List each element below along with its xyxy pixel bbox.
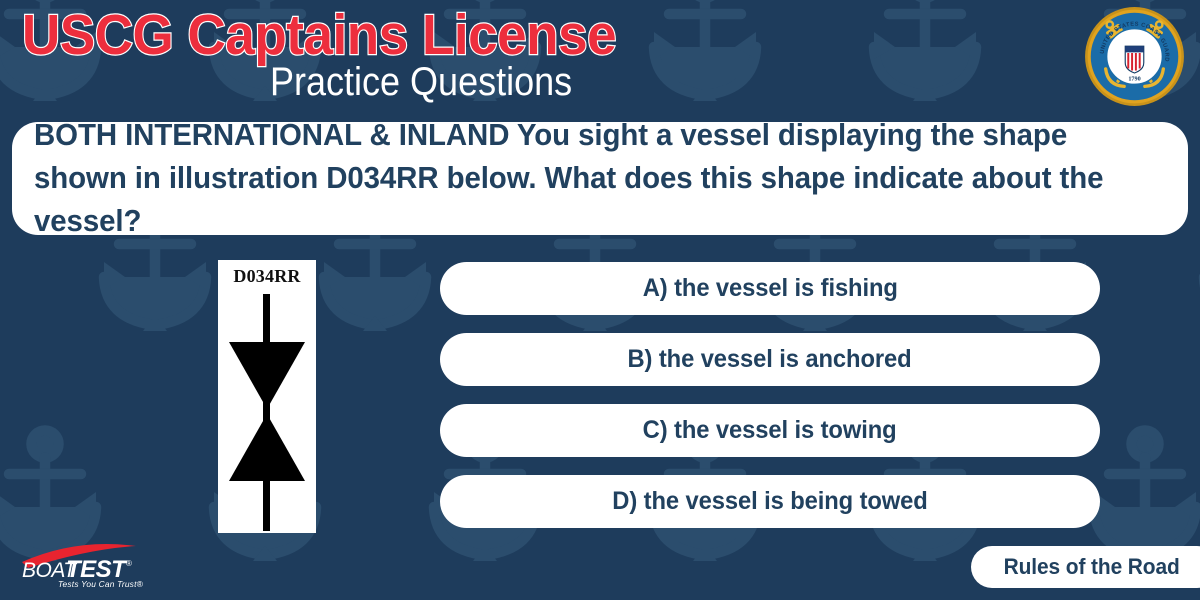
svg-text:1790: 1790 [1128,76,1140,83]
question-card: BOTH INTERNATIONAL & INLAND You sight a … [12,122,1188,235]
slide-canvas: USCG Captains License Practice Questions [0,0,1200,600]
answer-option-b[interactable]: B) the vessel is anchored [440,333,1100,386]
answer-option-d-label: D) the vessel is being towed [612,487,927,516]
illustration-label: D034RR [218,266,316,287]
boattest-logo[interactable]: BOAT TEST ® Tests You Can Trust® [18,532,178,592]
answer-options-list: A) the vessel is fishing B) the vessel i… [440,262,1100,546]
illustration-panel: D034RR [218,260,316,533]
uscg-seal-icon: UNITED STATES COAST GUARD 1790 [1083,5,1186,108]
question-text: BOTH INTERNATIONAL & INLAND You sight a … [34,114,1128,244]
page-subtitle: Practice Questions [270,62,572,102]
category-badge[interactable]: Rules of the Road [971,546,1200,588]
answer-option-d[interactable]: D) the vessel is being towed [440,475,1100,528]
svg-text:®: ® [126,559,132,568]
anchor-icon [0,190,10,340]
svg-text:Tests You Can Trust®: Tests You Can Trust® [58,579,144,589]
category-badge-label: Rules of the Road [1003,554,1179,580]
header: USCG Captains License Practice Questions [0,0,1200,118]
answer-option-c[interactable]: C) the vessel is towing [440,404,1100,457]
double-cone-dayshape-icon [218,292,316,533]
answer-option-a[interactable]: A) the vessel is fishing [440,262,1100,315]
answer-option-c-label: C) the vessel is towing [643,416,897,445]
answer-option-a-label: A) the vessel is fishing [642,274,897,303]
page-title: USCG Captains License [22,6,616,64]
answer-option-b-label: B) the vessel is anchored [628,345,912,374]
